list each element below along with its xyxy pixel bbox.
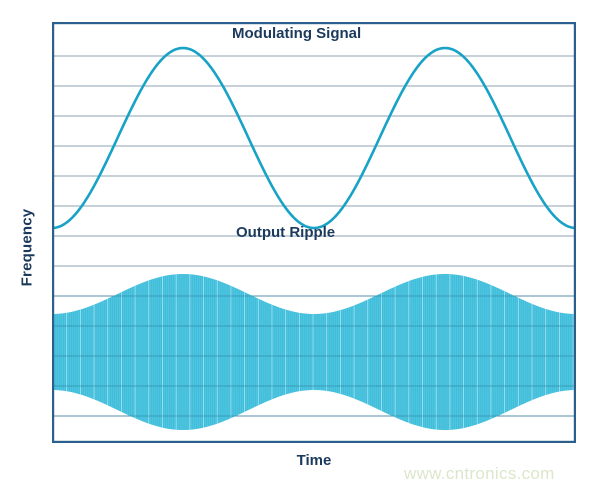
figure-canvas: Frequency Modulating Signal Output Rippl… [0, 0, 600, 494]
output-ripple-label: Output Ripple [236, 224, 335, 241]
y-axis-label: Frequency [6, 0, 48, 494]
y-axis-label-text: Frequency [19, 208, 36, 286]
plot-area: Modulating Signal Output Ripple [52, 22, 576, 443]
modulating-signal-label: Modulating Signal [232, 25, 361, 42]
watermark: www.cntronics.com [404, 464, 555, 484]
